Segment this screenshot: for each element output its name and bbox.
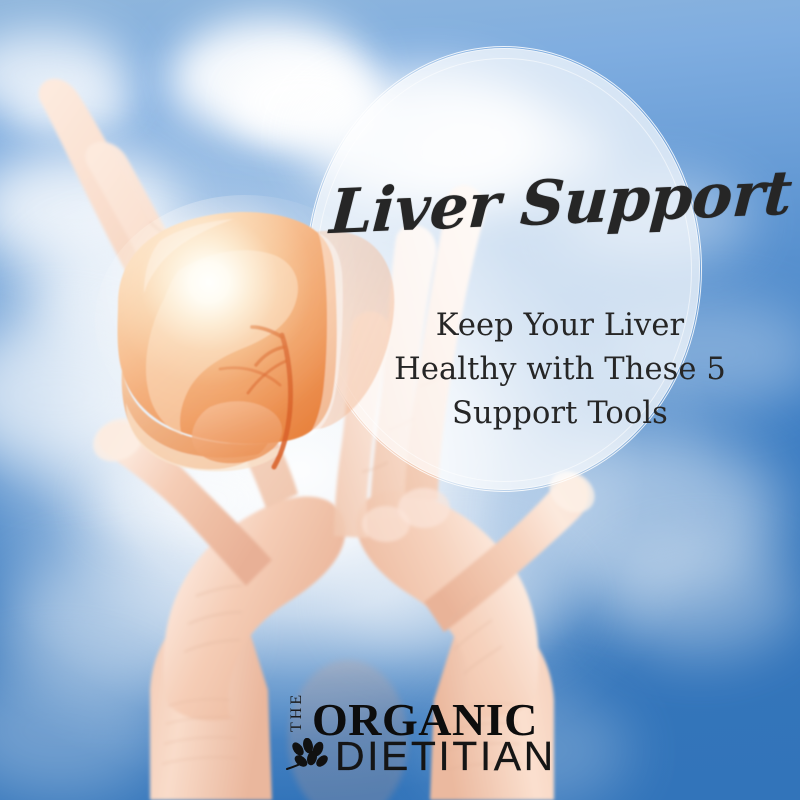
subtitle-line: Keep Your Liver [392,304,728,348]
leaf-sprig-icon [285,738,331,774]
brand-logo[interactable]: THE ORGANIC DIETITIAN [283,700,533,782]
subtitle: Keep Your Liver Healthy with These 5 Sup… [392,304,728,436]
subtitle-line: Support Tools [392,392,728,436]
logo-the-text: THE [288,698,306,732]
logo-dietitian-text: DIETITIAN [335,736,556,777]
promo-graphic-canvas: Liver Support Keep Your Liver Healthy wi… [0,0,800,800]
subtitle-line: Healthy with These 5 [392,348,728,392]
page-title: Liver Support [328,163,781,243]
